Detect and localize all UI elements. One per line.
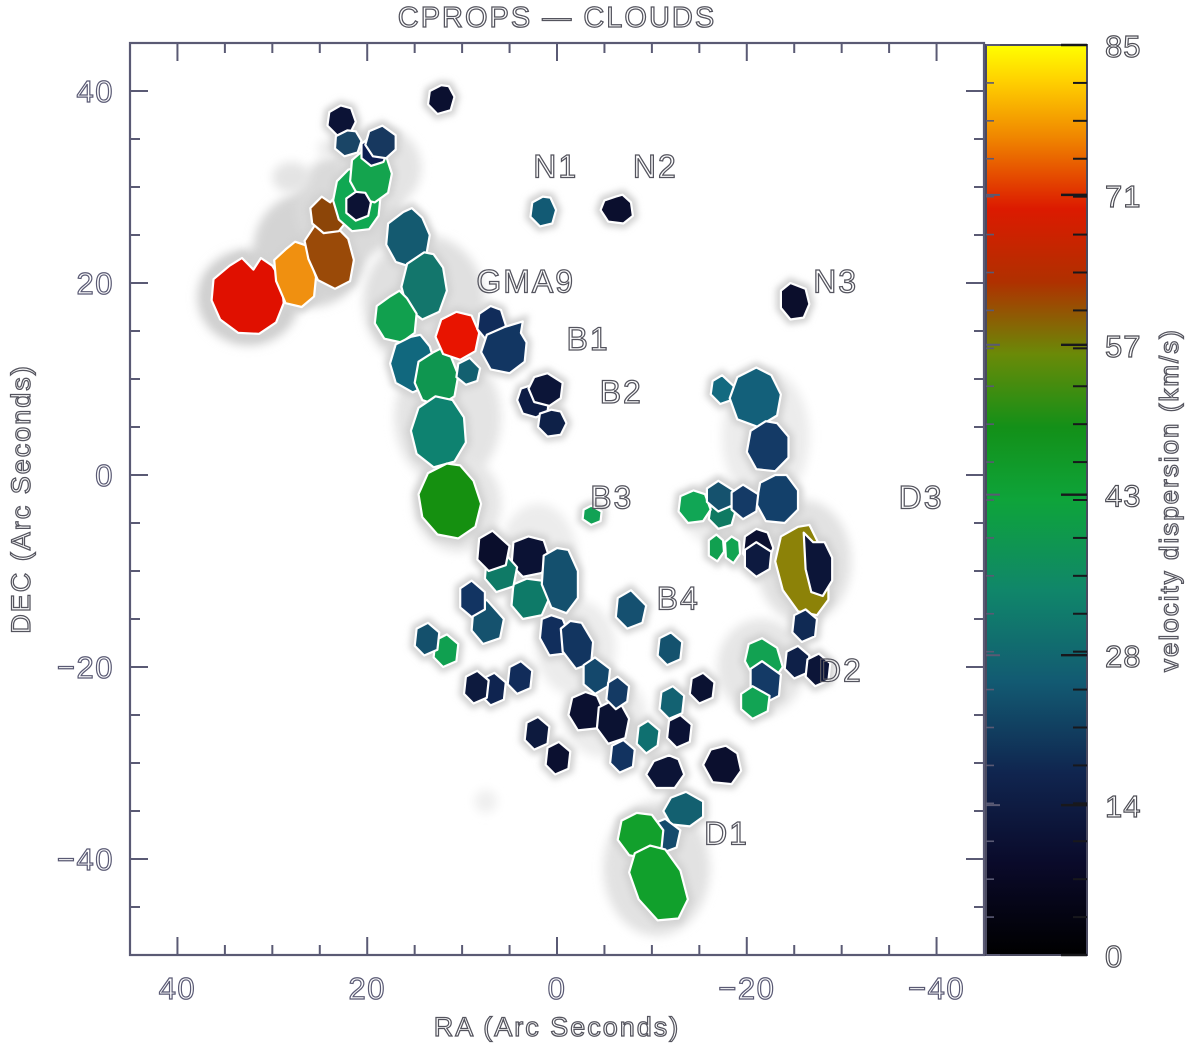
cloud-label-d1: D1 — [704, 816, 749, 852]
colorbar-tick-label: 14 — [1105, 789, 1141, 824]
cloud-polygon — [781, 283, 810, 320]
cloud-polygon — [747, 421, 789, 471]
cloud-label-b2: B2 — [600, 374, 643, 410]
cloud-polygon — [601, 195, 633, 224]
y-axis-label: DEC (Arc Seconds) — [6, 364, 36, 634]
colorbar-tick-label: 0 — [1105, 939, 1123, 974]
cloud-polygon — [428, 85, 455, 114]
colorbar-tick-label: 85 — [1105, 29, 1141, 64]
cloud-polygon — [346, 192, 371, 221]
colorbar-tick-label: 57 — [1105, 329, 1141, 364]
x-tick-label: 40 — [159, 971, 196, 1006]
x-tick-label: −40 — [908, 971, 965, 1006]
colorbar-tick-label: 71 — [1105, 179, 1141, 214]
cloud-label-n3: N3 — [813, 264, 858, 300]
colorbar-tick-label: 43 — [1105, 479, 1141, 514]
y-tick-label: 0 — [95, 458, 114, 493]
emission-blob — [474, 790, 497, 813]
cloud-label-b3: B3 — [590, 480, 633, 516]
cloud-polygon — [730, 368, 781, 428]
x-axis-label: RA (Arc Seconds) — [434, 1012, 681, 1042]
y-tick-label: −40 — [57, 842, 114, 877]
cloud-label-n2: N2 — [633, 148, 678, 184]
cloud-label-d3: D3 — [899, 480, 944, 516]
y-tick-label: 40 — [77, 74, 114, 109]
y-tick-label: −20 — [57, 650, 114, 685]
y-tick-label: 20 — [77, 266, 114, 301]
colorbar-tick-label: 28 — [1105, 639, 1141, 674]
x-tick-label: −20 — [718, 971, 775, 1006]
x-tick-label: 0 — [548, 971, 567, 1006]
cloud-label-d2: D2 — [818, 652, 863, 688]
cloud-polygon — [538, 410, 567, 437]
figure-root: CPROPS — CLOUDS N1N2N3GMA9B1B2B3B4D1D2D3… — [0, 0, 1200, 1051]
colorbar-gradient-rect — [986, 45, 1087, 955]
figure-title: CPROPS — CLOUDS — [398, 2, 716, 34]
cloud-label-b4: B4 — [657, 580, 700, 616]
cloud-label-n1: N1 — [533, 148, 578, 184]
x-tick-label: 20 — [348, 971, 385, 1006]
cloud-polygon — [411, 396, 466, 467]
cloud-polygon — [436, 312, 480, 360]
cloud-polygon — [335, 130, 362, 156]
cloud-label-gma9: GMA9 — [476, 264, 575, 300]
colorbar-label: velocity dispersion (km/s) — [1154, 328, 1184, 672]
emission-blob — [272, 162, 310, 193]
cloud-polygon — [756, 475, 798, 523]
cloud-polygon — [530, 197, 556, 227]
cprops-clouds-figure: CPROPS — CLOUDS N1N2N3GMA9B1B2B3B4D1D2D3… — [0, 0, 1200, 1051]
cloud-label-b1: B1 — [566, 321, 609, 357]
